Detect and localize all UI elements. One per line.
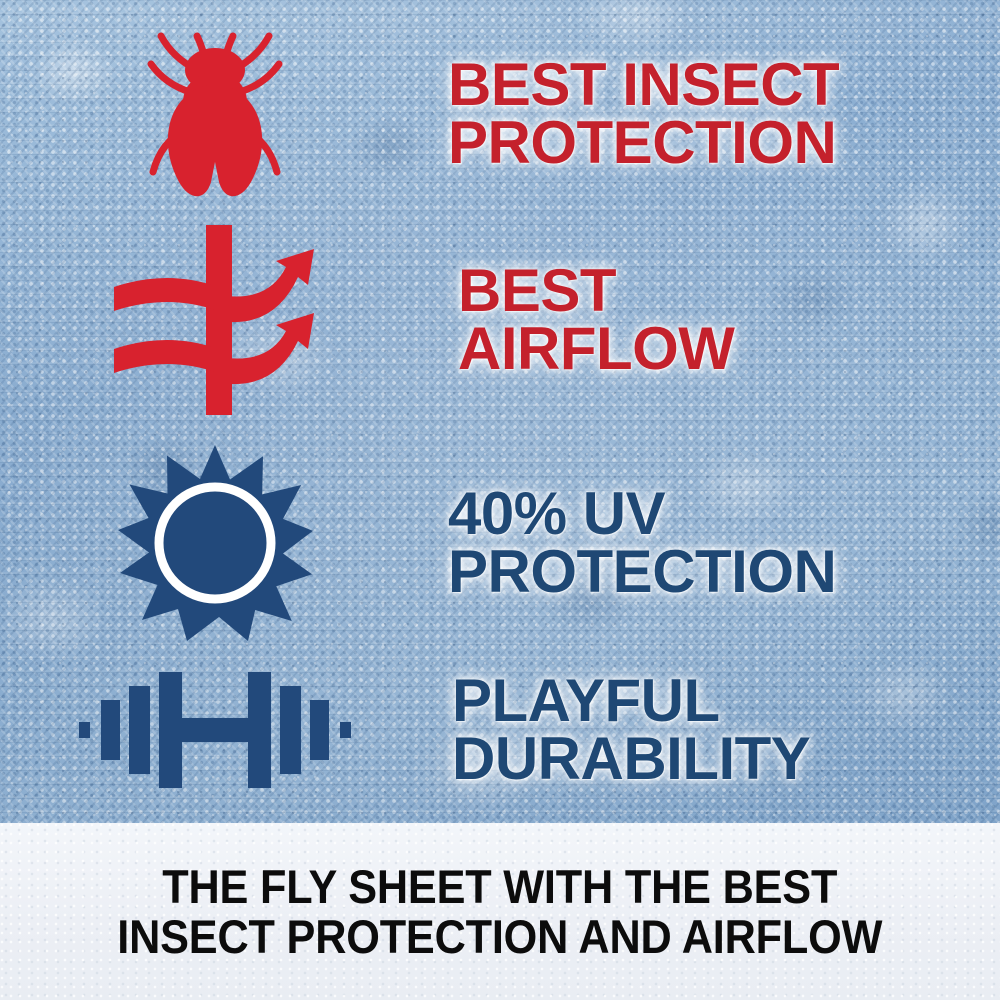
feature-label-insect-protection: BEST INSECT PROTECTION <box>448 56 839 171</box>
dumbbell-icon <box>79 666 351 794</box>
feature-row-insect-protection: BEST INSECT PROTECTION <box>0 14 1000 214</box>
caption-text: THE FLY SHEET WITH THE BEST INSECT PROTE… <box>118 862 883 962</box>
product-feature-poster: BEST INSECT PROTECTION <box>0 0 1000 1000</box>
sun-icon <box>115 443 315 643</box>
feature-label-durability: PLAYFUL DURABILITY <box>452 672 810 787</box>
feature-row-uv-protection: 40% UV PROTECTION <box>0 435 1000 650</box>
feature-label-uv-protection: 40% UV PROTECTION <box>448 485 836 600</box>
fly-icon <box>135 22 295 207</box>
feature-label-airflow: BEST AIRFLOW <box>458 262 734 377</box>
feature-row-airflow: BEST AIRFLOW <box>0 220 1000 420</box>
caption-band: THE FLY SHEET WITH THE BEST INSECT PROTE… <box>0 823 1000 1000</box>
feature-icon-column <box>0 22 430 207</box>
feature-row-durability: PLAYFUL DURABILITY <box>0 650 1000 810</box>
feature-icon-column <box>0 666 430 794</box>
feature-list: BEST INSECT PROTECTION <box>0 0 1000 823</box>
airflow-arrows-icon <box>108 225 323 415</box>
feature-icon-column <box>0 443 430 643</box>
feature-icon-column <box>0 225 430 415</box>
